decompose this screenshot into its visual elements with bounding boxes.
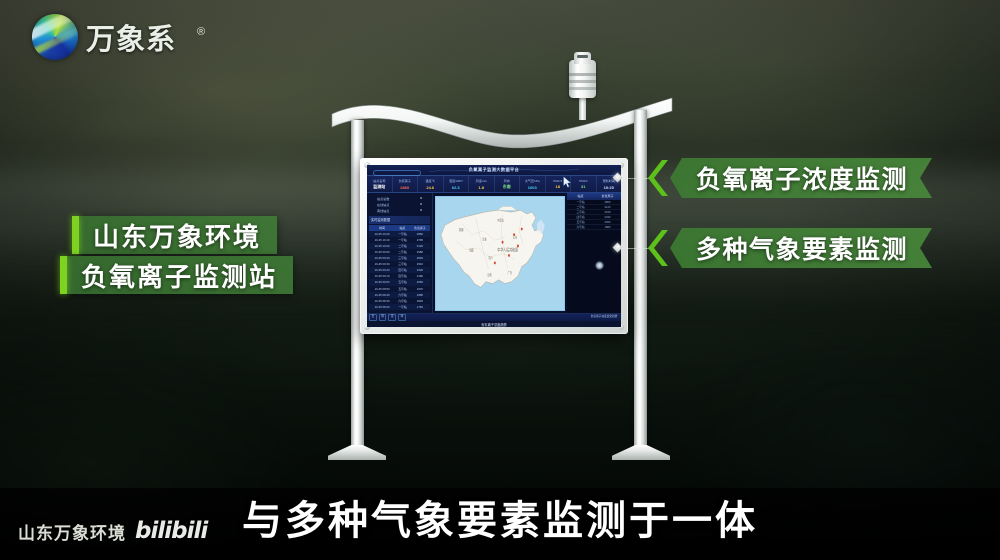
callout-right-2-label: 多种气象要素监测 — [696, 230, 908, 266]
svg-text:内蒙古: 内蒙古 — [497, 218, 504, 223]
nav-metric-label: 风速m/s — [476, 178, 487, 183]
nav-metric-cell[interactable]: PM2.518 — [546, 176, 572, 192]
chevron-left-icon — [648, 228, 670, 268]
nav-metric-value: 1003 — [528, 185, 537, 190]
nav-metric-label: 大气压hPa — [525, 178, 540, 183]
nav-metric-value: 2860 — [400, 185, 409, 190]
callout-left-1-label: 山东万象环境 — [79, 217, 277, 254]
globe-swirl-icon — [32, 14, 78, 60]
nav-metric-value: 62.3 — [452, 185, 460, 190]
right-panel-cell: 2330 — [594, 215, 621, 219]
right-panel-cell: 3120 — [594, 205, 621, 209]
stat-value: 0 — [420, 208, 422, 213]
right-panel-cell: 1880 — [594, 225, 621, 229]
nav-metric-cell[interactable]: 负氧离子2860 — [393, 176, 419, 192]
brand-logo: 万象系 ® — [32, 14, 176, 60]
nav-metric-label: PM10 — [579, 179, 587, 183]
nav-metric-value: 1.8 — [478, 185, 484, 190]
nav-metric-label: 负氧离子 — [399, 178, 411, 183]
right-panel-row[interactable]: 六号站1880 — [567, 225, 621, 230]
table-title: 实时监测数据 — [369, 216, 430, 223]
svg-text:新疆: 新疆 — [459, 227, 464, 232]
video-frame: 万象系 ® — [0, 0, 1000, 560]
stat-label: 离线站点 — [377, 208, 389, 213]
callout-right-1-label: 负氧离子浓度监测 — [696, 160, 908, 196]
right-panel-cell: 2050 — [594, 220, 621, 224]
nav-metric-label: 温度℃ — [425, 178, 435, 183]
nav-metric-cell[interactable]: 风速m/s1.8 — [469, 176, 495, 192]
right-panel-rows[interactable]: 一号站2860二号站3120三号站2640四号站2330五号站2050六号站18… — [567, 200, 621, 230]
support-post-right — [634, 110, 647, 450]
nav-metric-value: 东南 — [503, 184, 511, 190]
callout-right-1-box: 负氧离子浓度监测 — [670, 158, 932, 198]
dashboard-body: 站点总数6在线站点6离线站点0 实时监测数据 时间站点负氧离子 10-25 10… — [367, 193, 621, 313]
callout-right-2-box: 多种气象要素监测 — [670, 228, 932, 268]
china-map[interactable]: 新疆 西藏 青海 内蒙古 四川 云南 广东 山东 中华人民共和国 — [435, 196, 565, 311]
right-panel-cell: 2640 — [594, 210, 621, 214]
curved-arch-bar — [330, 92, 674, 156]
nav-metric-cell[interactable]: 站点名称监测站 — [367, 176, 393, 192]
svg-text:青海: 青海 — [482, 237, 487, 242]
dashboard-header: 负氧离子监测大数据平台 — [367, 165, 621, 176]
dashboard-map-panel[interactable]: 新疆 西藏 青海 内蒙古 四川 云南 广东 山东 中华人民共和国 — [433, 193, 567, 313]
right-panel-cell: 二号站 — [567, 205, 594, 209]
nav-metric-cell[interactable]: 大气压hPa1003 — [520, 176, 546, 192]
right-panel-cell: 五号站 — [567, 220, 594, 224]
nav-metric-label: 风向 — [504, 178, 510, 183]
post-base-left — [328, 445, 386, 460]
stat-row: 离线站点0 — [369, 208, 430, 214]
chart-toolbar-label: 负氧离子浓度变化趋势 — [589, 315, 619, 320]
table-cell: 1760 — [410, 304, 430, 310]
callout-left-2-label: 负氧离子监测站 — [67, 257, 293, 294]
nav-metric-cell[interactable]: 风向东南 — [495, 176, 521, 192]
svg-text:西藏: 西藏 — [469, 248, 474, 253]
nav-metric-cell[interactable]: 温度℃24.6 — [418, 176, 444, 192]
station-stats-block: 站点总数6在线站点6离线站点0 — [369, 195, 430, 214]
chart-range-chip[interactable]: 日 — [369, 314, 377, 321]
callout-right-2: 多种气象要素监测 — [648, 228, 932, 268]
svg-text:广东: 广东 — [508, 271, 513, 276]
chart-range-chip[interactable]: 年 — [398, 314, 406, 321]
callout-left-2: 负氧离子监测站 — [60, 256, 293, 294]
right-panel-cell: 三号站 — [567, 210, 594, 214]
realtime-data-table[interactable]: 时间站点负氧离子 10-25 10:20一号站286010-25 10:10一号… — [369, 225, 430, 310]
video-subtitle: 与多种气象要素监测于一体 — [0, 488, 1000, 546]
chart-range-chip[interactable]: 月 — [388, 314, 396, 321]
svg-text:中华人民共和国: 中华人民共和国 — [497, 247, 518, 253]
accent-bar — [72, 216, 79, 254]
svg-text:云南: 云南 — [487, 273, 492, 278]
table-row[interactable]: 10-25 08:20一号站1760 — [369, 304, 430, 310]
chevron-left-icon — [648, 158, 670, 198]
display-screen-frame: 负氧离子监测大数据平台 站点名称监测站负氧离子2860温度℃24.6湿度%RH6… — [360, 158, 628, 334]
table-cell: 10-25 08:20 — [369, 304, 395, 310]
stat-value: 6 — [420, 202, 422, 207]
nav-metric-cell[interactable]: 湿度%RH62.3 — [444, 176, 470, 192]
nav-metric-label: 站点名称 — [373, 178, 385, 183]
monitoring-station-kiosk: 负氧离子监测大数据平台 站点名称监测站负氧离子2860温度℃24.6湿度%RH6… — [320, 58, 680, 458]
metrics-nav-strip[interactable]: 站点名称监测站负氧离子2860温度℃24.6湿度%RH62.3风速m/s1.8风… — [367, 176, 621, 193]
nav-metric-value: 24.6 — [426, 185, 434, 190]
nav-metric-value: 31 — [581, 184, 585, 189]
accent-bar — [60, 256, 67, 294]
nav-metric-value: 10:25 — [604, 185, 614, 190]
nav-metric-value: 18 — [556, 184, 560, 189]
nav-metric-value: 监测站 — [373, 184, 385, 190]
dashboard-screen[interactable]: 负氧离子监测大数据平台 站点名称监测站负氧离子2860温度℃24.6湿度%RH6… — [367, 165, 621, 327]
dashboard-right-panel[interactable]: 站点负氧离子 一号站2860二号站3120三号站2640四号站2330五号站20… — [567, 193, 621, 313]
right-panel-cell: 一号站 — [567, 200, 594, 204]
svg-text:四川: 四川 — [488, 256, 493, 261]
right-panel-column-header: 负氧离子 — [594, 193, 621, 200]
dashboard-left-panel: 站点总数6在线站点6离线站点0 实时监测数据 时间站点负氧离子 10-25 10… — [367, 193, 433, 313]
bottom-overlay-bar: 山东万象环境 bilibili 与多种气象要素监测于一体 — [0, 488, 1000, 560]
dashboard-chart-panel: 日 周 月 年 负氧离子浓度变化趋势 负氧离子浓度趋势 320024001600… — [367, 313, 621, 327]
callout-right-1: 负氧离子浓度监测 — [648, 158, 932, 198]
right-panel-header: 站点负氧离子 — [567, 193, 621, 200]
map-focus-marker-icon — [593, 259, 606, 272]
nav-metric-label: PM2.5 — [553, 179, 562, 183]
right-panel-cell: 六号站 — [567, 225, 594, 229]
nav-metric-label: 湿度%RH — [449, 178, 462, 183]
post-base-right — [612, 445, 670, 460]
right-panel-column-header: 站点 — [567, 193, 594, 200]
stat-value: 6 — [420, 196, 422, 201]
table-cell: 一号站 — [395, 304, 410, 310]
stat-label: 在线站点 — [377, 202, 389, 207]
stat-label: 站点总数 — [377, 196, 389, 201]
right-panel-cell: 2860 — [594, 200, 621, 204]
nav-metric-cell[interactable]: PM1031 — [571, 176, 597, 192]
chart-toolbar[interactable]: 日 周 月 年 负氧离子浓度变化趋势 — [367, 314, 621, 321]
right-panel-cell: 四号站 — [567, 215, 594, 219]
weather-sensor-radiation-shield — [567, 52, 597, 118]
brand-logo-text: 万象系 — [86, 16, 176, 58]
chart-range-chip[interactable]: 周 — [379, 314, 387, 321]
callout-left-1: 山东万象环境 — [72, 216, 277, 254]
